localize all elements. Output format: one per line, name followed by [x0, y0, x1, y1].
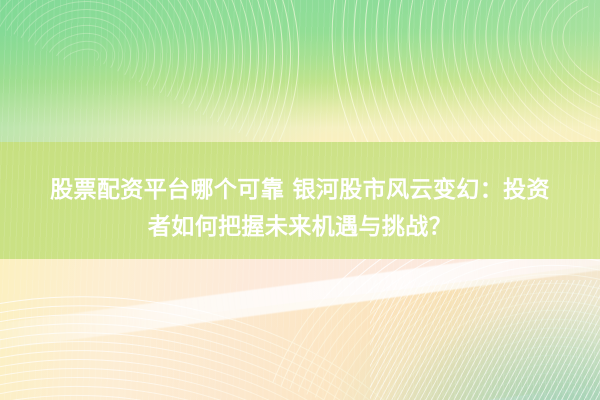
arc-fan-top-left-decoration: [0, 0, 300, 142]
arc-fan-top-right-decoration: [330, 0, 600, 142]
banner-top-gradient-band: [0, 0, 600, 142]
banner-midsection-plate: [0, 142, 600, 259]
yellow-ridge-decoration: [115, 259, 600, 400]
diagonal-sheen-decoration: [0, 259, 600, 354]
arc-fan-bottom-right-decoration: [250, 259, 600, 400]
promo-banner: 股票配资平台哪个可靠 银河股市风云变幻：投资 者如何把握未来机遇与挑战？: [0, 0, 600, 400]
arc-fan-bottom-left-decoration: [0, 299, 470, 400]
teal-corner-wash-decoration: [340, 280, 600, 400]
banner-bottom-cream-panel: [0, 259, 600, 400]
teal-corner-stripes-decoration: [370, 280, 600, 400]
